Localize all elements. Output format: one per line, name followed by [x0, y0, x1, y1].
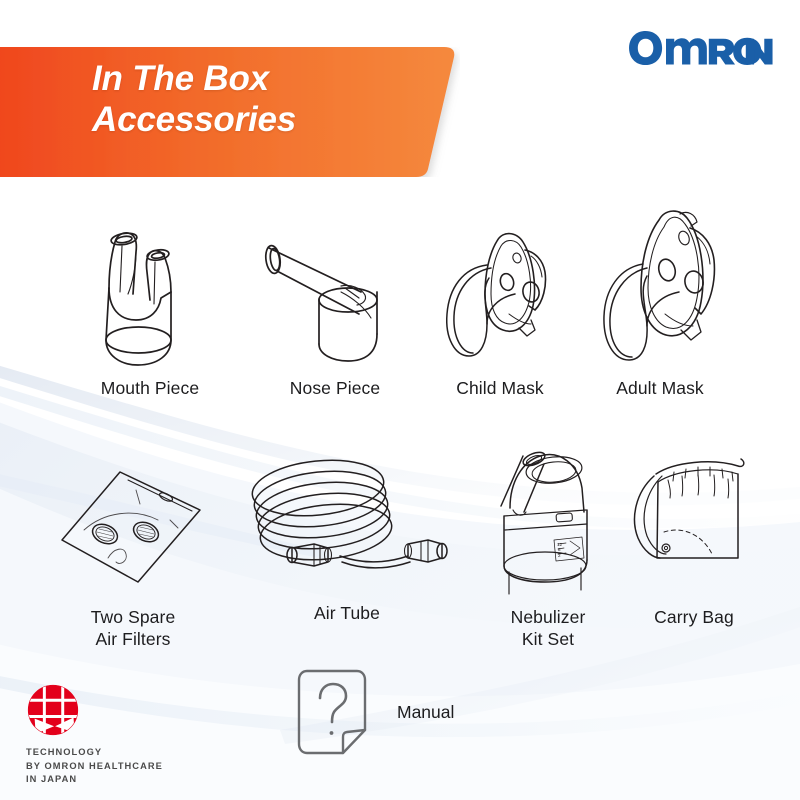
accessory-label: Nebulizer Kit Set	[478, 606, 618, 650]
air-filters-art	[48, 462, 218, 592]
child-mask-art	[425, 210, 575, 377]
svg-text:8: 8	[558, 547, 561, 552]
air-tube-art	[232, 448, 462, 592]
carry-bag-art	[620, 440, 768, 592]
nebulizer-kit-art: 12 8 2	[478, 440, 618, 592]
accessory-label: Mouth Piece	[75, 377, 225, 399]
air-tube-illustration	[250, 454, 447, 568]
nose-piece-art	[255, 222, 415, 377]
mouth-piece-illustration	[106, 232, 171, 365]
nebulizer-kit-illustration: 12 8 2	[501, 450, 587, 594]
mouth-piece-art	[75, 222, 225, 377]
accessory-child-mask: Child Mask	[425, 210, 575, 399]
carry-bag-illustration	[635, 459, 744, 558]
header: In The Box Accessories	[0, 0, 800, 200]
adult-mask-art	[585, 200, 735, 377]
child-mask-illustration	[447, 234, 546, 356]
japan-globe-mark-icon	[26, 683, 80, 737]
banner-title-line-2: Accessories	[92, 99, 422, 140]
accessory-label: Nose Piece	[255, 377, 415, 399]
accessory-label: Two Spare Air Filters	[48, 606, 218, 650]
accessory-mouth-piece: Mouth Piece	[75, 222, 225, 399]
accessory-label: Adult Mask	[585, 377, 735, 399]
accessory-label: Child Mask	[425, 377, 575, 399]
nose-piece-illustration	[264, 245, 377, 361]
product-infographic: In The Box Accessories	[0, 0, 800, 800]
banner-title-line-1: In The Box	[92, 58, 422, 99]
accessory-nebulizer-kit: 12 8 2 Nebulizer Kit Set	[478, 440, 618, 650]
accessory-nose-piece: Nose Piece	[255, 222, 415, 399]
manual-document-icon	[295, 668, 369, 756]
banner-title: In The Box Accessories	[92, 58, 422, 140]
manual-label: Manual	[397, 702, 454, 723]
japan-badge-text: TECHNOLOGY BY OMRON HEALTHCARE IN JAPAN	[26, 746, 246, 787]
accessory-adult-mask: Adult Mask	[585, 200, 735, 399]
omron-logo	[628, 30, 776, 66]
accessory-air-tube: Air Tube	[232, 448, 462, 624]
accessory-label: Air Tube	[232, 602, 462, 624]
accessory-carry-bag: Carry Bag	[620, 440, 768, 628]
accessory-label: Carry Bag	[620, 606, 768, 628]
technology-japan-badge: TECHNOLOGY BY OMRON HEALTHCARE IN JAPAN	[26, 683, 246, 787]
air-filters-illustration	[62, 472, 200, 582]
adult-mask-illustration	[604, 211, 714, 360]
accessory-air-filters: Two Spare Air Filters	[48, 462, 218, 650]
manual-row: Manual	[295, 668, 454, 756]
svg-text:2: 2	[558, 553, 561, 558]
